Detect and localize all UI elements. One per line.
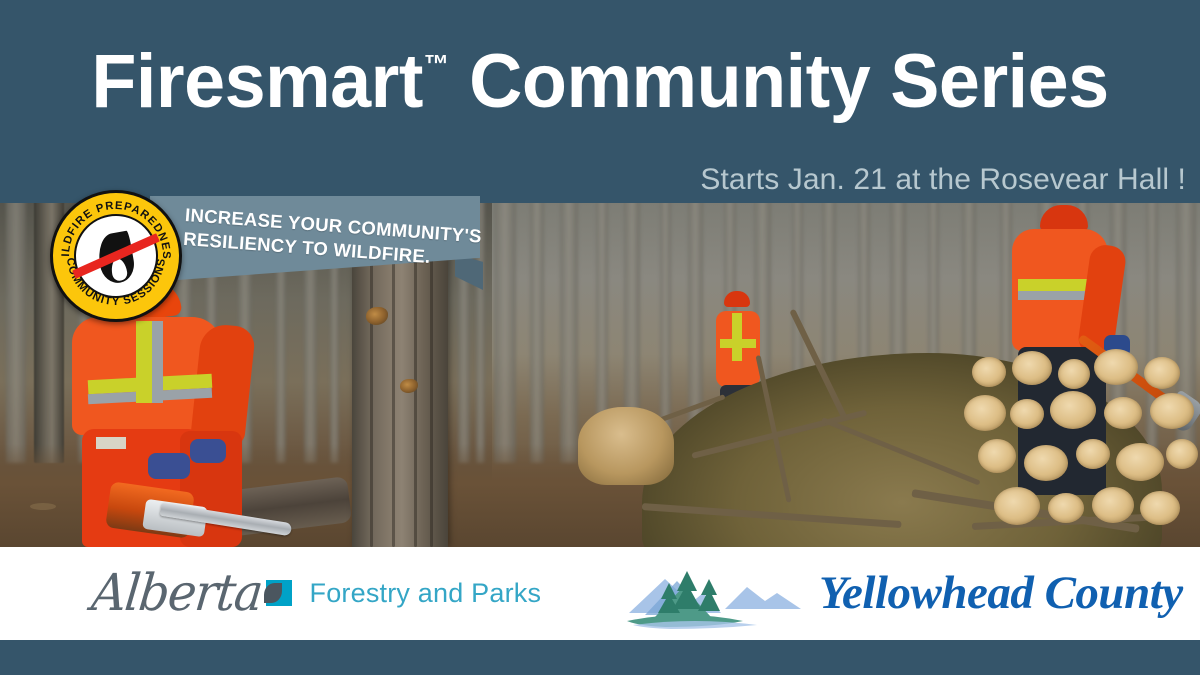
- event-subtitle: Starts Jan. 21 at the Rosevear Hall !: [700, 163, 1186, 197]
- title-rest: Community Series: [449, 39, 1109, 124]
- trademark-symbol: ™: [424, 49, 449, 79]
- alberta-square-icon: [266, 580, 292, 606]
- title-main: Firesmart: [91, 39, 423, 124]
- yellowhead-county-logo: Yellowhead County: [625, 555, 1183, 631]
- yellowhead-county-wordmark: Yellowhead County: [819, 566, 1183, 620]
- photo-right-slash-clearing: [492, 203, 1200, 547]
- logo-band: Alberta Forestry and Parks Yellowhead Co…: [0, 547, 1200, 640]
- worker-with-chainsaw: [52, 281, 282, 547]
- footer-band: [0, 640, 1200, 675]
- alberta-department-label: Forestry and Parks: [310, 578, 542, 609]
- mountains-trees-icon: [625, 557, 811, 629]
- tree-stump: [578, 407, 674, 485]
- alberta-logo: Alberta Forestry and Parks: [92, 559, 541, 627]
- stacked-logs: [964, 341, 1200, 541]
- poster-root: Firesmart™ Community Series Starts Jan. …: [0, 0, 1200, 675]
- wildfire-preparedness-badge: · WILDFIRE PREPAREDNESS · COMMUNITY SESS…: [50, 190, 182, 322]
- header-band: Firesmart™ Community Series Starts Jan. …: [0, 0, 1200, 203]
- alberta-wordmark: Alberta: [89, 568, 264, 619]
- page-title: Firesmart™ Community Series: [18, 44, 1182, 120]
